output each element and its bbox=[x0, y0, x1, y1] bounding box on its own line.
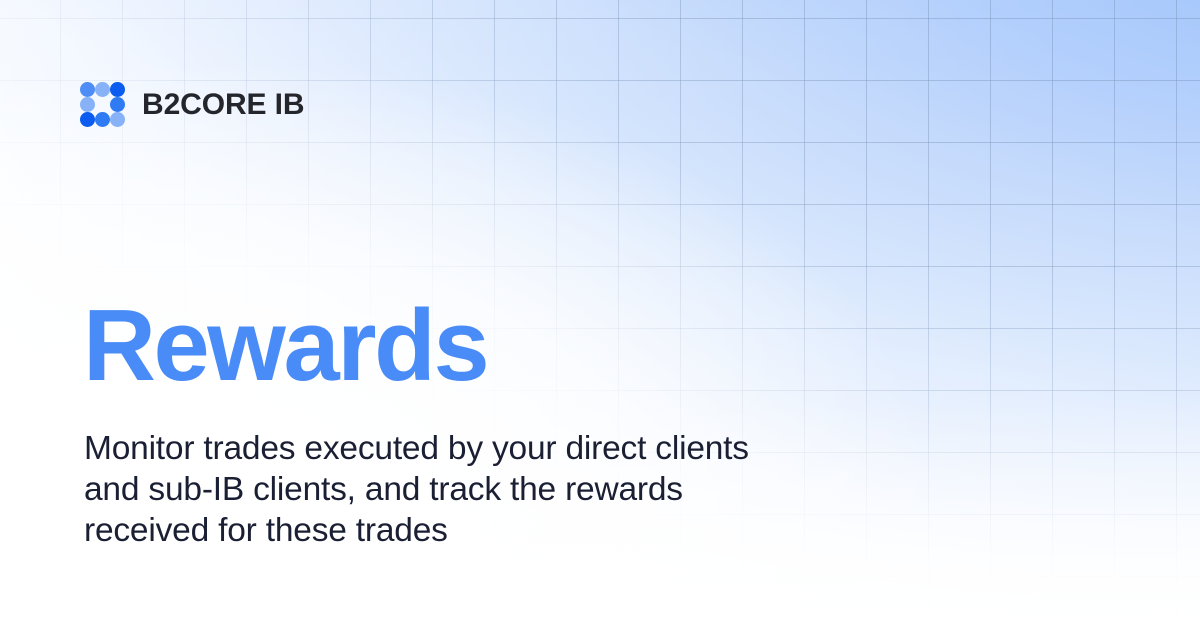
brand-wordmark: B2CORE IB bbox=[142, 90, 304, 120]
logo-dot-middle-left bbox=[80, 97, 95, 112]
page-subtitle: Monitor trades executed by your direct c… bbox=[84, 428, 784, 551]
logo-dot-middle-center bbox=[95, 97, 110, 112]
logo-dot-bottom-left bbox=[80, 112, 95, 127]
banner-content: B2CORE IB Rewards Monitor trades execute… bbox=[0, 0, 1200, 630]
page-title: Rewards bbox=[83, 296, 487, 397]
logo-dot-bottom-right bbox=[110, 112, 125, 127]
logo-dot-top-left bbox=[80, 82, 95, 97]
logo-dot-middle-right bbox=[110, 97, 125, 112]
b2core-dots-icon bbox=[80, 82, 125, 127]
brand-logo-lockup[interactable]: B2CORE IB bbox=[80, 82, 304, 127]
logo-dot-top-right bbox=[110, 82, 125, 97]
logo-dot-top-center bbox=[95, 82, 110, 97]
hero-banner: B2CORE IB Rewards Monitor trades execute… bbox=[0, 0, 1200, 630]
logo-dot-bottom-center bbox=[95, 112, 110, 127]
